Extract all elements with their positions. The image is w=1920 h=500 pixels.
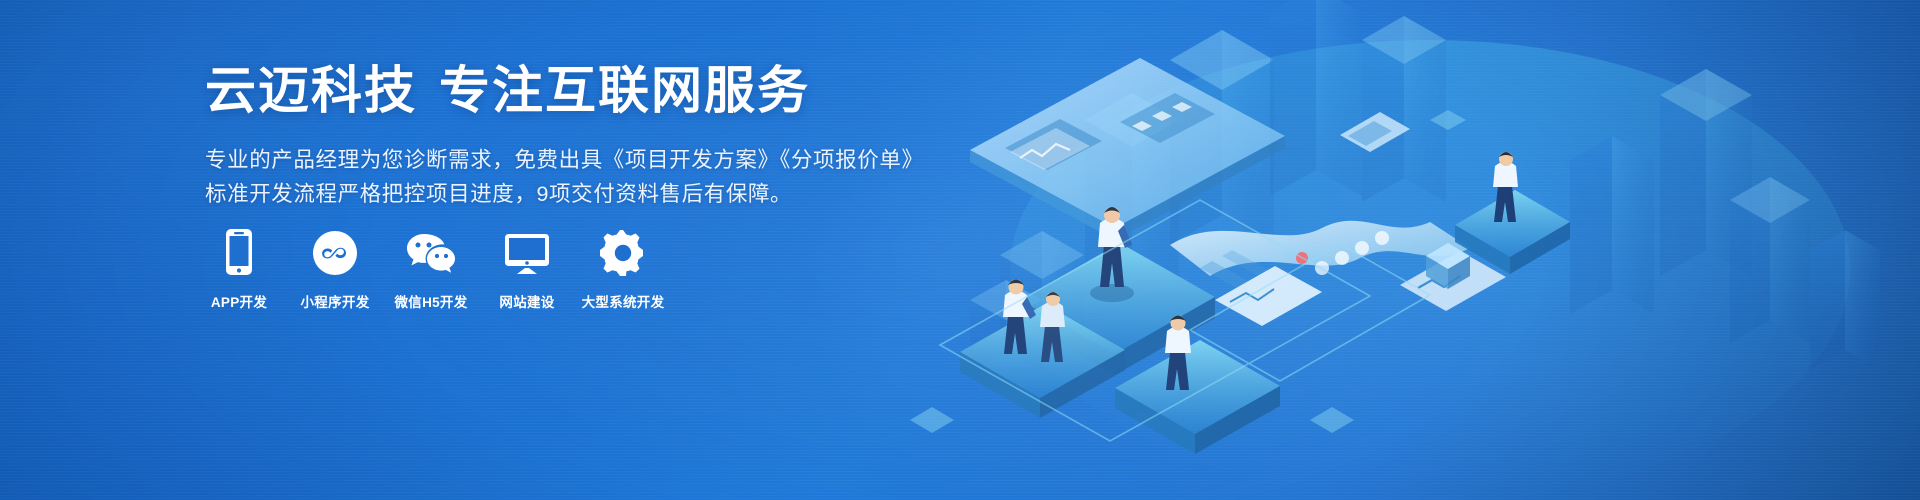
headline-tagline: 专注互联网服务 [439, 62, 810, 119]
monitor-icon [503, 228, 551, 276]
hero-copy-block: 云迈科技专注互联网服务 专业的产品经理为您诊断需求，免费出具《项目开发方案》《分… [205, 62, 965, 211]
service-label: 微信H5开发 [394, 291, 467, 311]
hero-subtitle: 专业的产品经理为您诊断需求，免费出具《项目开发方案》《分项报价单》 标准开发流程… [205, 143, 965, 211]
service-item-website[interactable]: 网站建设 [490, 228, 564, 311]
subtitle-line-2: 标准开发流程严格把控项目进度，9项交付资料售后有保障。 [205, 177, 965, 211]
isometric-tech-teamwork-illustration [870, 0, 1920, 500]
hero-banner: 云迈科技专注互联网服务 专业的产品经理为您诊断需求，免费出具《项目开发方案》《分… [0, 0, 1920, 500]
mini-program-icon [312, 228, 358, 276]
mobile-phone-icon [223, 228, 255, 276]
wechat-icon [405, 228, 457, 276]
service-label: 小程序开发 [301, 291, 370, 311]
service-item-app[interactable]: APP开发 [202, 228, 276, 311]
gear-icon [600, 228, 646, 276]
service-item-wechat-h5[interactable]: 微信H5开发 [394, 228, 468, 311]
service-item-mini-program[interactable]: 小程序开发 [298, 228, 372, 311]
subtitle-line-1: 专业的产品经理为您诊断需求，免费出具《项目开发方案》《分项报价单》 [205, 143, 965, 177]
service-label: APP开发 [211, 291, 267, 311]
service-item-large-system[interactable]: 大型系统开发 [586, 228, 660, 311]
service-list: APP开发 小程序开发 微信 [202, 228, 660, 311]
service-label: 网站建设 [499, 291, 554, 311]
page-title: 云迈科技专注互联网服务 [205, 62, 965, 119]
service-label: 大型系统开发 [582, 291, 665, 311]
headline-brand: 云迈科技 [205, 62, 417, 119]
